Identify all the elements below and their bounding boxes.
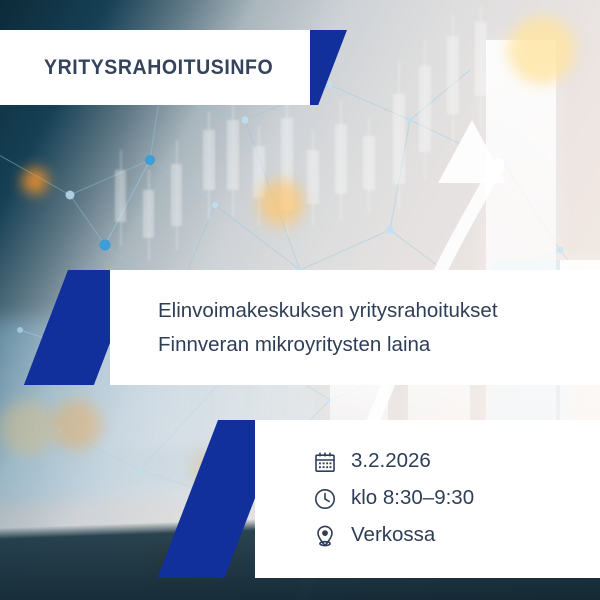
page-title: YRITYSRAHOITUSINFO: [44, 30, 273, 105]
event-title-line1: Elinvoimakeskuksen yritysrahoitukset: [158, 296, 578, 325]
event-time-row: klo 8:30–9:30: [312, 487, 474, 512]
event-location-label: Verkossa: [351, 525, 435, 547]
bokeh-light: [508, 16, 576, 84]
poster-canvas: YRITYSRAHOITUSINFO Elinvoimakeskuksen yr…: [0, 0, 600, 600]
clock-icon: [312, 487, 337, 512]
location-pin-icon: [312, 524, 337, 549]
calendar-icon: [312, 450, 337, 475]
event-date-label: 3.2.2026: [351, 451, 431, 473]
bokeh-light: [258, 180, 304, 226]
event-details-list: 3.2.2026 klo 8:30–9:30 Verkossa: [312, 420, 474, 578]
event-location-row: Verkossa: [312, 524, 474, 549]
event-time-label: klo 8:30–9:30: [351, 488, 474, 510]
bokeh-light: [22, 168, 48, 194]
event-date-row: 3.2.2026: [312, 450, 474, 475]
event-title-line2: Finnveran mikroyritysten laina: [158, 330, 578, 359]
event-title: Elinvoimakeskuksen yritysrahoitukset Fin…: [158, 270, 578, 385]
